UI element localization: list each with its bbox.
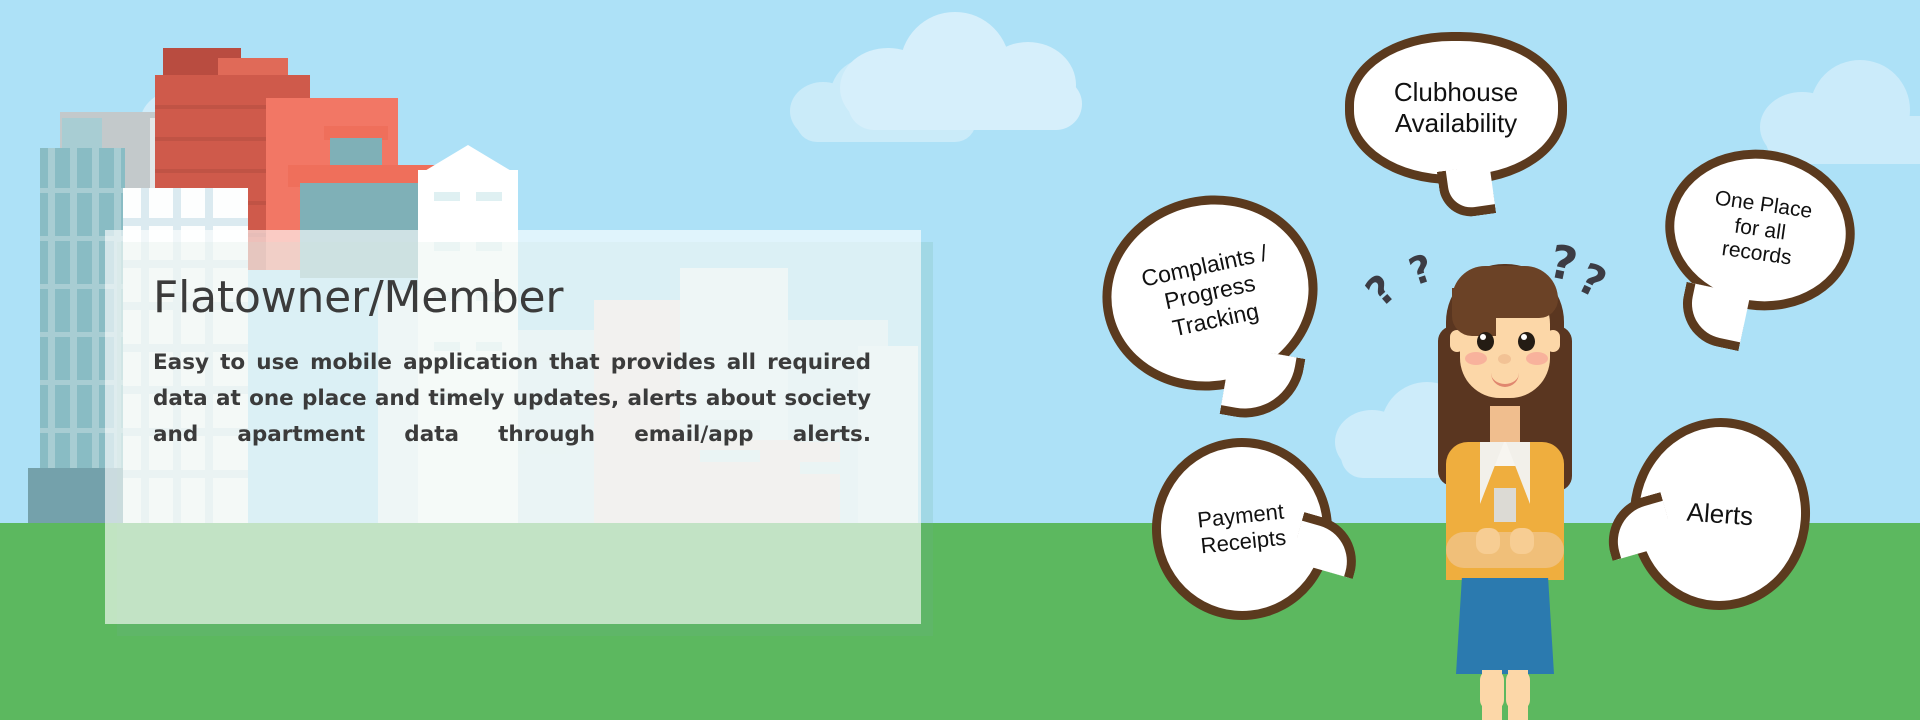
- calf-left: [1480, 670, 1504, 710]
- tower-cap: [62, 118, 102, 150]
- hand-left: [1476, 528, 1500, 554]
- nose: [1498, 354, 1511, 364]
- calf-right: [1506, 670, 1530, 710]
- skirt: [1456, 578, 1554, 674]
- bubble-clubhouse-availability[interactable]: Clubhouse Availability: [1345, 32, 1567, 184]
- hair-fringe-side: [1452, 288, 1496, 336]
- small-house-upper: [330, 138, 382, 168]
- panel-description: Easy to use mobile application that prov…: [153, 345, 871, 489]
- cloud-icon: [790, 58, 990, 140]
- hand-right: [1510, 528, 1534, 554]
- bubble-alerts-line1: Alerts: [1686, 496, 1754, 531]
- eye-right: [1518, 332, 1535, 351]
- crossed-arms: [1446, 532, 1564, 568]
- eye-left: [1477, 332, 1494, 351]
- bubble-clubhouse-line2: Availability: [1394, 108, 1518, 139]
- bubble-clubhouse-line1: Clubhouse: [1394, 77, 1518, 108]
- panel-description-text: Easy to use mobile application that prov…: [153, 345, 871, 489]
- collar-center: [1494, 488, 1516, 522]
- blush-right: [1526, 352, 1548, 365]
- page-title: Flatowner/Member: [153, 272, 563, 323]
- cloud-icon: [1760, 60, 1920, 160]
- illustration-stage: Flatowner/Member Easy to use mobile appl…: [0, 0, 1920, 720]
- blush-left: [1465, 352, 1487, 365]
- confused-woman-illustration: [1420, 256, 1590, 720]
